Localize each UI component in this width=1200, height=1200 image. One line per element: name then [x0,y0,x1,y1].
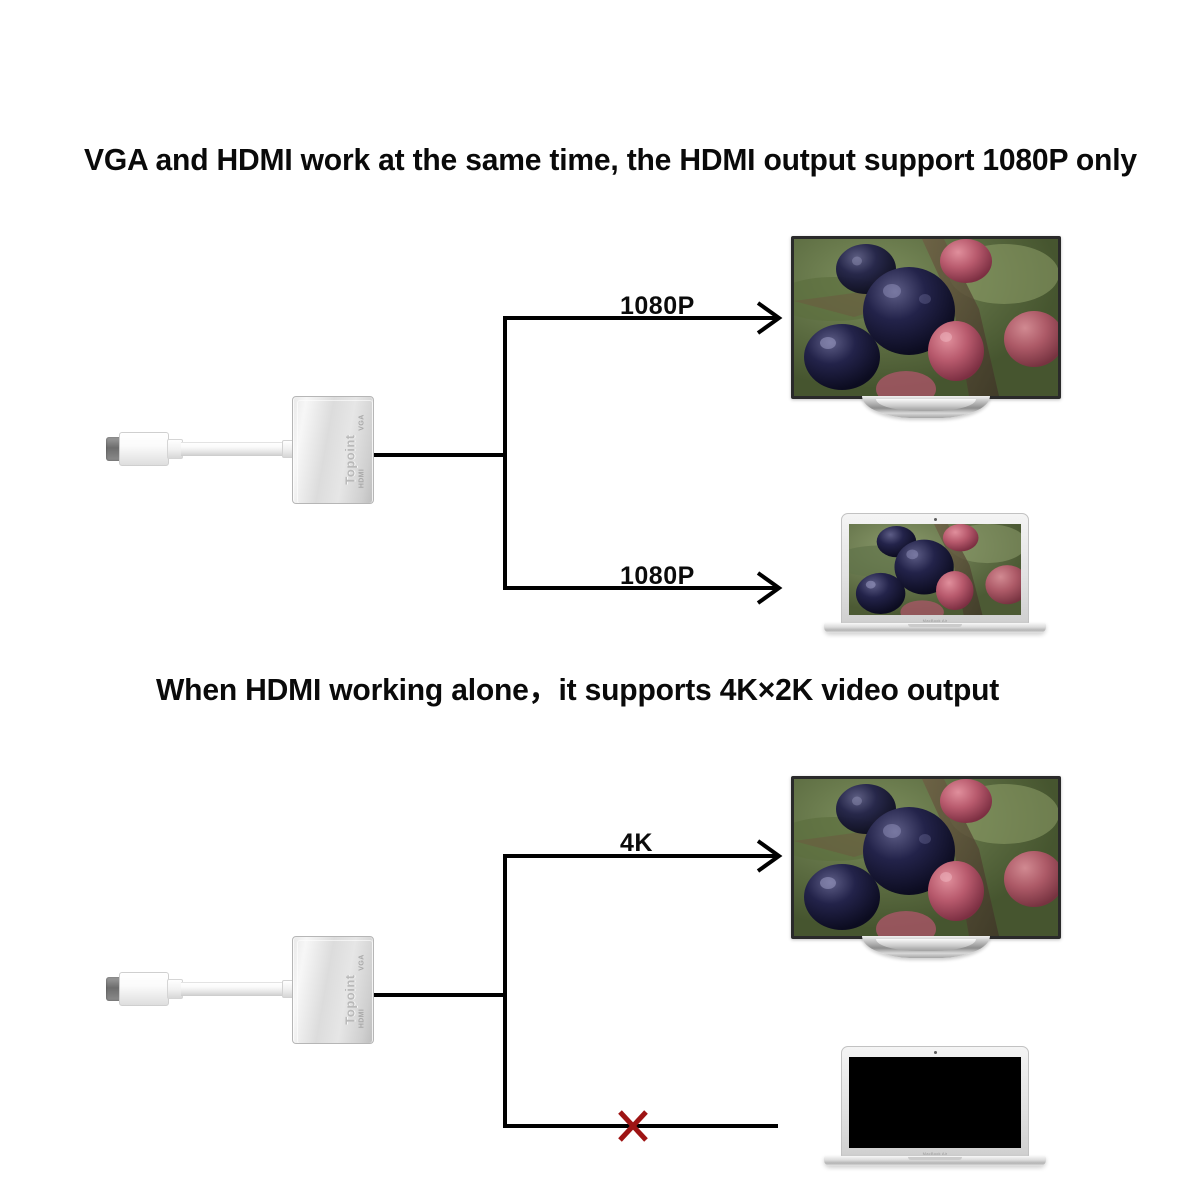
arrowhead-tv-bottom [758,841,779,871]
tv-stand-base [862,396,990,418]
laptop-lid: MacBook Air [841,513,1029,625]
tv-stand-base [862,936,990,958]
berry-photo [794,779,1058,936]
laptop-top: MacBook Air [824,513,1046,641]
wiring-top [374,317,778,589]
usb-c-adapter-top: Topoint VGA HDMI [106,396,376,504]
tv-screen [794,779,1058,936]
laptop-camera-icon [934,1051,937,1054]
laptop-bottom-off: MacBook Air [824,1046,1046,1174]
laptop-base [824,1156,1046,1166]
adapter-port-label-vga: VGA [359,947,366,979]
adapter-brand-label: Topoint [343,423,358,497]
wiring-bottom [374,855,778,1127]
berry-photo [849,524,1021,615]
laptop-base [824,623,1046,633]
laptop-screen-off [849,1057,1021,1148]
usb-c-adapter-bottom: Topoint VGA HDMI [106,936,376,1044]
arrowhead-tv-top [758,303,779,333]
branch-label-1080p-laptop: 1080P [620,562,695,591]
adapter-brand-label: Topoint [343,963,358,1037]
television-bottom [791,776,1061,954]
tv-bezel [791,236,1061,399]
adapter-hub-body: Topoint VGA HDMI [292,936,374,1044]
diagram-canvas: VGA and HDMI work at the same time, the … [0,0,1200,1200]
adapter-cable [181,982,287,996]
berry-photo [794,239,1058,396]
tv-bezel [791,776,1061,939]
adapter-port-label-hdmi: HDMI [359,460,366,498]
adapter-cable [181,442,287,456]
arrowhead-laptop-top [758,573,779,603]
usb-c-plug-housing [119,972,169,1006]
usb-c-plug-housing [119,432,169,466]
laptop-camera-icon [934,518,937,521]
branch-label-1080p-tv: 1080P [620,292,695,321]
adapter-hub-body: Topoint VGA HDMI [292,396,374,504]
laptop-screen [849,524,1021,615]
adapter-port-label-vga: VGA [359,407,366,439]
page-title-top: VGA and HDMI work at the same time, the … [84,143,1137,178]
page-title-bottom: When HDMI working alone，it supports 4K×2… [156,665,999,709]
red-x-icon [620,1112,646,1140]
tv-screen [794,239,1058,396]
television-top [791,236,1061,414]
laptop-lid: MacBook Air [841,1046,1029,1158]
branch-label-4k-tv: 4K [620,829,653,858]
adapter-port-label-hdmi: HDMI [359,1000,366,1038]
